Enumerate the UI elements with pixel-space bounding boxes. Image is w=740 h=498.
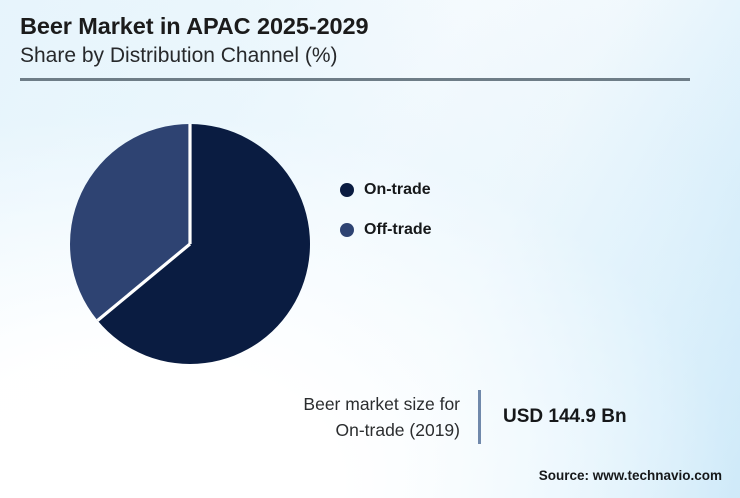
pie-chart	[68, 122, 312, 366]
legend-item-label: Off-trade	[364, 221, 432, 239]
header-divider	[20, 78, 690, 81]
stat-callout: Beer market size for On-trade (2019) USD…	[240, 388, 700, 446]
legend-dot-icon	[340, 223, 354, 237]
source-attribution: Source: www.technavio.com	[539, 468, 722, 483]
stat-value: USD 144.9 Bn	[481, 406, 627, 428]
legend-item-off-trade[interactable]: Off-trade	[340, 210, 530, 250]
pie-chart-svg	[68, 122, 312, 366]
legend-dot-icon	[340, 183, 354, 197]
page-title: Beer Market in APAC 2025-2029	[20, 12, 700, 41]
legend-item-on-trade[interactable]: On-trade	[340, 170, 530, 210]
stat-label: Beer market size for On-trade (2019)	[240, 391, 478, 444]
infographic-canvas: Beer Market in APAC 2025-2029 Share by D…	[0, 0, 740, 498]
stat-label-line-2: On-trade (2019)	[240, 417, 460, 443]
chart-legend: On-trade Off-trade	[340, 170, 530, 250]
stat-label-line-1: Beer market size for	[240, 391, 460, 417]
chart-header: Beer Market in APAC 2025-2029 Share by D…	[20, 12, 700, 68]
page-subtitle: Share by Distribution Channel (%)	[20, 43, 700, 69]
legend-item-label: On-trade	[364, 181, 431, 199]
